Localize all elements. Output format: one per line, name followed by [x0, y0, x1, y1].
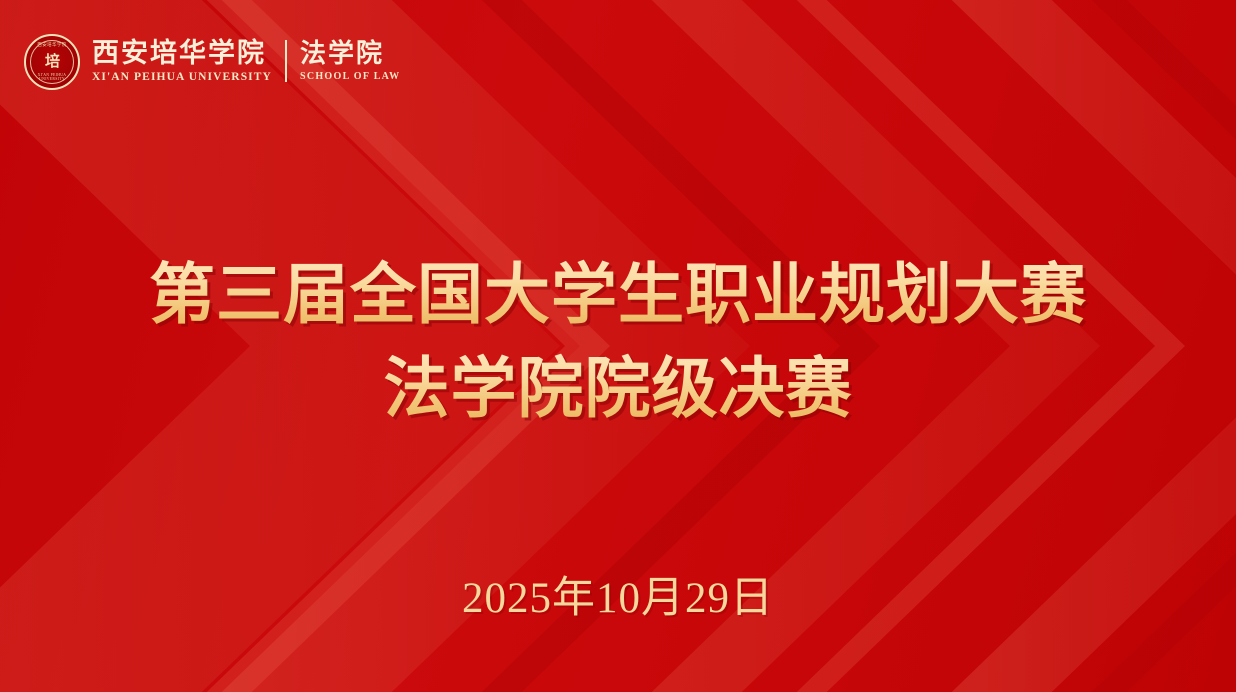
page-title: 第三届全国大学生职业规划大赛 法学院院级决赛 [0, 248, 1236, 435]
university-seal-icon: 西安培华学院 培 XI'AN PEIHUA UNIVERSITY [24, 34, 80, 90]
title-line-1: 第三届全国大学生职业规划大赛 [0, 248, 1236, 342]
university-name-cn: 西安培华学院 [92, 39, 272, 68]
institution-logo: 西安培华学院 培 XI'AN PEIHUA UNIVERSITY 西安培华学院 … [24, 30, 400, 94]
event-date: 2025年10月29日 [0, 563, 1236, 625]
seal-arc-bottom-text: XI'AN PEIHUA UNIVERSITY [26, 74, 78, 82]
logo-wordmark: 西安培华学院 XI'AN PEIHUA UNIVERSITY 法学院 SCHOO… [92, 39, 400, 86]
logo-divider [285, 40, 287, 83]
university-name-en: XI'AN PEIHUA UNIVERSITY [92, 70, 272, 86]
school-name-en: SCHOOL OF LAW [300, 70, 400, 84]
presentation-title-slide: 西安培华学院 培 XI'AN PEIHUA UNIVERSITY 西安培华学院 … [0, 0, 1236, 692]
school-name-cn: 法学院 [300, 40, 400, 68]
title-line-2: 法学院院级决赛 [0, 342, 1236, 436]
logo-university-block: 西安培华学院 XI'AN PEIHUA UNIVERSITY [92, 39, 272, 86]
logo-school-block: 法学院 SCHOOL OF LAW [300, 39, 400, 86]
